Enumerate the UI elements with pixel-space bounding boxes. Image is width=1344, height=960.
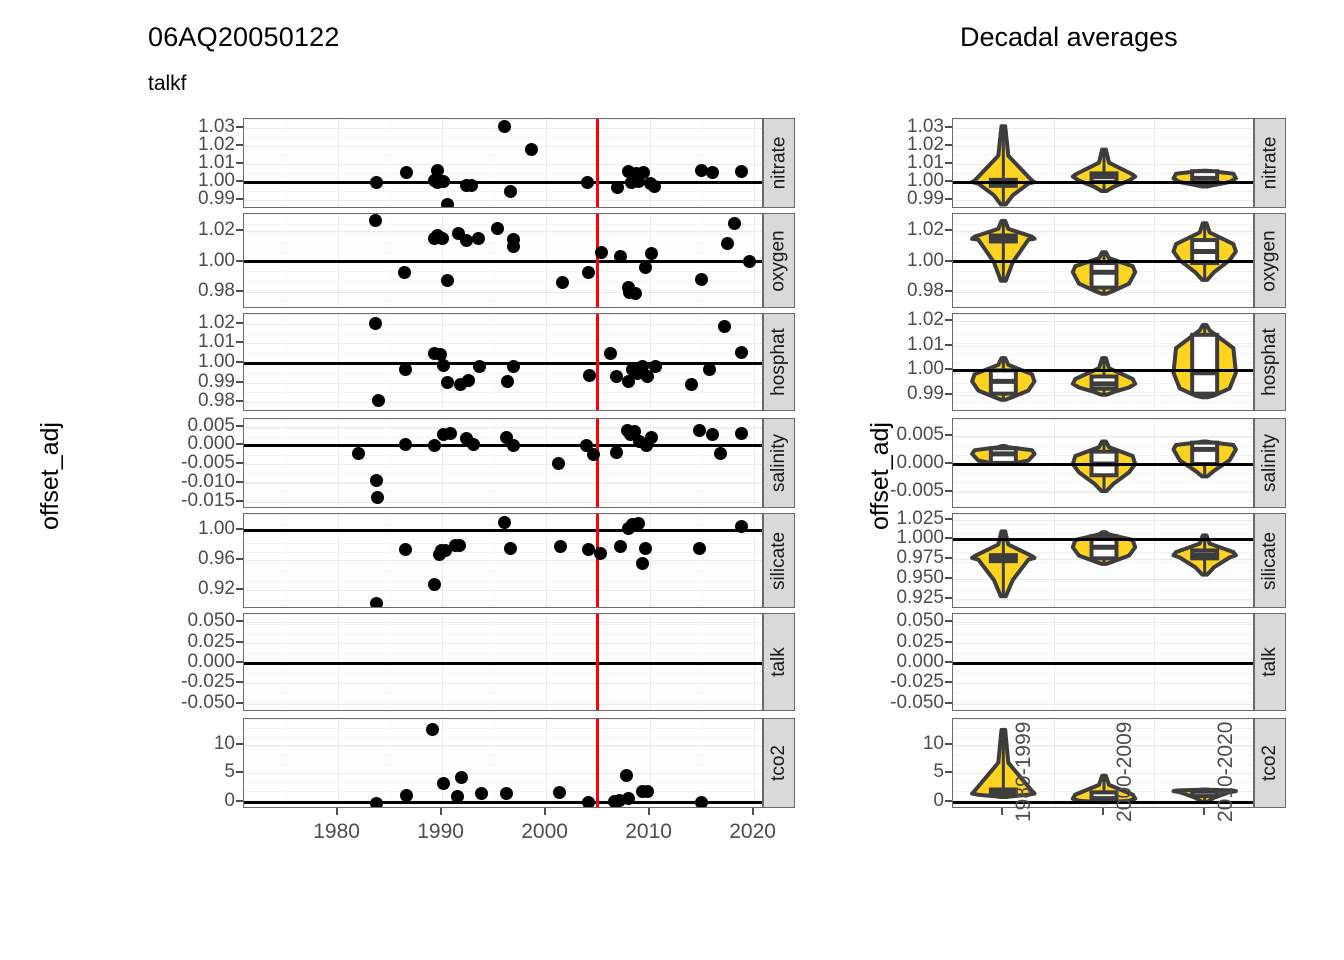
data-point: [556, 276, 569, 289]
gridline-vertical-major: [650, 119, 651, 207]
y-tick-mark: [945, 126, 952, 128]
data-point: [582, 543, 595, 556]
x-tick-label: 2010: [625, 820, 672, 844]
gridline-vertical-major: [338, 719, 339, 807]
data-point: [398, 266, 411, 279]
y-tick-label: 0.950: [862, 567, 944, 589]
y-tick-mark: [945, 162, 952, 164]
x-tick-label: 2000: [521, 820, 568, 844]
facet-strip-label: tco2: [768, 745, 790, 781]
data-point: [610, 370, 623, 383]
boxplot-box: [1092, 263, 1117, 288]
y-tick-mark: [945, 557, 952, 559]
gridline-vertical-major: [442, 719, 443, 807]
y-tick-mark: [236, 743, 243, 745]
data-point: [685, 378, 698, 391]
x-tick-mark: [1102, 808, 1104, 815]
y-tick-label: 1.00: [165, 518, 235, 540]
x-tick-mark: [1203, 808, 1205, 815]
data-point: [636, 557, 649, 570]
y-tick-label: 0.025: [862, 631, 944, 653]
zero-reference-line: [953, 260, 1253, 263]
data-point: [743, 255, 756, 268]
y-tick-label: 0.96: [165, 548, 235, 570]
gridline-minor: [244, 290, 762, 291]
data-point: [428, 578, 441, 591]
zero-reference-line: [244, 260, 762, 263]
y-tick-mark: [236, 425, 243, 427]
y-tick-mark: [236, 702, 243, 704]
gridline-minor: [244, 764, 762, 765]
y-tick-label: 0.000: [862, 651, 944, 673]
cruise-year-marker: [596, 214, 599, 307]
data-point: [437, 777, 450, 790]
data-point: [639, 261, 652, 274]
y-tick-label: 1.00: [862, 250, 944, 272]
y-tick-label: 0.050: [862, 610, 944, 632]
facet-strip-talk: talk: [1254, 613, 1286, 711]
facet-strip-nitrate: nitrate: [1254, 118, 1286, 208]
y-tick-mark: [945, 620, 952, 622]
gridline-vertical-major: [754, 419, 755, 507]
data-point: [649, 360, 662, 373]
gridline-minor: [244, 491, 762, 492]
gridline-vertical-major: [754, 719, 755, 807]
right-plot-title: Decadal averages: [960, 22, 1178, 53]
y-tick-mark: [945, 681, 952, 683]
gridline-major: [244, 343, 762, 344]
y-tick-mark: [945, 198, 952, 200]
y-tick-mark: [236, 481, 243, 483]
cruise-year-marker: [596, 119, 599, 207]
data-point: [441, 198, 454, 208]
figure-root: 06AQ20050122 talkf Decadal averages offs…: [0, 0, 1344, 960]
y-tick-label: 5: [862, 761, 944, 783]
right-panel-oxygen: [952, 213, 1254, 308]
y-tick-label: -0.050: [165, 692, 235, 714]
data-point: [370, 176, 383, 189]
data-point: [610, 446, 623, 459]
gridline-minor: [244, 581, 762, 582]
zero-reference-line: [953, 662, 1253, 665]
y-tick-mark: [236, 588, 243, 590]
gridline-minor: [244, 782, 762, 783]
y-tick-mark: [236, 290, 243, 292]
zero-reference-line: [244, 529, 762, 532]
gridline-vertical-minor: [702, 119, 703, 207]
right-panel-talk: [952, 613, 1254, 711]
cruise-year-marker: [596, 514, 599, 607]
gridline-minor: [244, 455, 762, 456]
data-point: [451, 790, 464, 803]
y-tick-mark: [236, 558, 243, 560]
facet-strip-label: talk: [1259, 647, 1281, 677]
x-tick-mark: [648, 808, 650, 815]
y-tick-mark: [236, 620, 243, 622]
data-point: [399, 438, 412, 451]
data-point: [504, 542, 517, 555]
data-point: [552, 457, 565, 470]
data-point: [620, 769, 633, 782]
data-point: [553, 786, 566, 799]
data-point: [645, 431, 658, 444]
facet-strip-talk: talk: [763, 613, 795, 711]
data-point: [595, 246, 608, 259]
data-point: [735, 520, 748, 533]
y-tick-mark: [945, 229, 952, 231]
gridline-minor: [244, 719, 762, 720]
gridline-vertical-minor: [702, 719, 703, 807]
y-tick-label: 1.03: [165, 116, 235, 138]
gridline-minor: [244, 173, 762, 174]
data-point: [441, 376, 454, 389]
data-point: [437, 175, 450, 188]
x-tick-mark: [440, 808, 442, 815]
data-point: [400, 789, 413, 802]
y-tick-mark: [945, 518, 952, 520]
facet-strip-hosphat: hosphat: [763, 313, 795, 411]
data-point: [695, 273, 708, 286]
data-point: [498, 120, 511, 133]
x-tick-label: 1990: [417, 820, 464, 844]
data-point: [735, 165, 748, 178]
y-tick-label: 0: [862, 790, 944, 812]
data-point: [462, 374, 475, 387]
gridline-major: [244, 292, 762, 293]
gridline-vertical-minor: [286, 119, 287, 207]
gridline-major: [244, 643, 762, 644]
y-tick-mark: [945, 641, 952, 643]
gridline-vertical-minor: [494, 119, 495, 207]
gridline-minor: [244, 473, 762, 474]
data-point: [554, 540, 567, 553]
left-plot-subtitle: talkf: [148, 72, 187, 96]
cruise-year-marker: [596, 419, 599, 507]
y-tick-mark: [236, 681, 243, 683]
gridline-vertical-minor: [390, 119, 391, 207]
gridline-major: [244, 146, 762, 147]
data-point: [583, 369, 596, 382]
gridline-vertical-major: [338, 119, 339, 207]
y-tick-label: 1.02: [862, 219, 944, 241]
zero-reference-line: [953, 463, 1253, 466]
y-tick-mark: [236, 361, 243, 363]
data-point: [507, 240, 520, 253]
facet-strip-label: silicate: [768, 531, 790, 589]
y-tick-label: 0.98: [862, 280, 944, 302]
y-tick-mark: [945, 368, 952, 370]
facet-strip-label: salinity: [768, 434, 790, 492]
gridline-vertical-minor: [494, 419, 495, 507]
data-point: [370, 474, 383, 487]
y-tick-label: -0.005: [862, 480, 944, 502]
right-panel-nitrate: [952, 118, 1254, 208]
y-tick-label: 1.025: [862, 508, 944, 530]
y-tick-mark: [945, 661, 952, 663]
y-tick-mark: [236, 661, 243, 663]
y-tick-label: -0.015: [165, 490, 235, 512]
y-tick-mark: [236, 198, 243, 200]
y-tick-label: 1.02: [165, 219, 235, 241]
gridline-major: [244, 324, 762, 325]
gridline-minor: [244, 155, 762, 156]
y-tick-label: 0.98: [165, 390, 235, 412]
gridline-minor: [244, 392, 762, 393]
y-tick-mark: [945, 290, 952, 292]
y-tick-label: 0.975: [862, 547, 944, 569]
gridline-vertical-major: [546, 719, 547, 807]
facet-strip-salinity: salinity: [763, 418, 795, 508]
y-tick-mark: [945, 743, 952, 745]
gridline-major: [244, 402, 762, 403]
facet-strip-tco2: tco2: [1254, 718, 1286, 808]
data-point: [399, 363, 412, 376]
left-panel-salinity: [243, 418, 763, 508]
facet-strip-tco2: tco2: [763, 718, 795, 808]
y-tick-mark: [945, 771, 952, 773]
gridline-vertical-major: [442, 119, 443, 207]
facet-strip-label: oxygen: [1259, 230, 1281, 291]
gridline-major: [244, 683, 762, 684]
data-point: [465, 179, 478, 192]
y-tick-label: 0.000: [862, 452, 944, 474]
y-tick-mark: [236, 462, 243, 464]
gridline-major: [244, 200, 762, 201]
y-tick-label: 0.000: [165, 651, 235, 673]
data-point: [718, 320, 731, 333]
facet-strip-salinity: salinity: [1254, 418, 1286, 508]
x-tick-label: 1980: [313, 820, 360, 844]
facet-strip-label: silicate: [1259, 531, 1281, 589]
x-tick-label: 2010-2020: [1214, 722, 1238, 822]
cruise-year-marker: [596, 719, 599, 807]
boxplot-box: [1192, 335, 1217, 394]
data-point: [352, 447, 365, 460]
data-point: [399, 543, 412, 556]
gridline-major: [244, 427, 762, 428]
violin-group: [953, 119, 1254, 208]
facet-strip-label: hosphat: [1259, 328, 1281, 396]
y-tick-label: 0.025: [165, 631, 235, 653]
gridline-vertical-minor: [494, 719, 495, 807]
data-point: [611, 181, 624, 194]
y-tick-mark: [236, 800, 243, 802]
gridline-minor: [244, 233, 762, 234]
data-point: [693, 542, 706, 555]
y-tick-mark: [945, 800, 952, 802]
y-tick-mark: [945, 702, 952, 704]
x-tick-mark: [544, 808, 546, 815]
gridline-minor: [244, 737, 762, 738]
facet-strip-hosphat: hosphat: [1254, 313, 1286, 411]
facet-strip-silicate: silicate: [1254, 513, 1286, 608]
data-point: [629, 287, 642, 300]
facet-strip-label: talk: [768, 647, 790, 677]
left-panel-silicate: [243, 513, 763, 608]
zero-reference-line: [953, 369, 1253, 372]
gridline-minor: [244, 428, 762, 429]
gridline-minor: [244, 600, 762, 601]
data-point: [460, 234, 473, 247]
data-point: [582, 266, 595, 279]
y-tick-mark: [945, 462, 952, 464]
y-tick-mark: [945, 260, 952, 262]
data-point: [641, 785, 654, 798]
data-point: [594, 547, 607, 560]
data-point: [735, 346, 748, 359]
y-tick-label: 0.98: [165, 280, 235, 302]
gridline-minor: [244, 552, 762, 553]
gridline-major: [244, 622, 762, 623]
data-point: [372, 394, 385, 407]
y-tick-label: 5: [165, 761, 235, 783]
data-point: [473, 360, 486, 373]
gridline-major: [244, 590, 762, 591]
gridline-vertical-minor: [390, 419, 391, 507]
y-tick-label: 1.02: [862, 309, 944, 331]
gridline-minor: [244, 137, 762, 138]
gridline-minor: [244, 281, 762, 282]
x-tick-mark: [752, 808, 754, 815]
data-point: [714, 447, 727, 460]
gridline-minor: [244, 624, 762, 625]
x-tick-mark: [1001, 808, 1003, 815]
y-tick-mark: [236, 341, 243, 343]
y-tick-mark: [945, 180, 952, 182]
violin-group: [953, 514, 1254, 608]
y-tick-mark: [945, 319, 952, 321]
y-tick-label: -0.025: [165, 671, 235, 693]
zero-reference-line: [244, 444, 762, 447]
gridline-minor: [244, 634, 762, 635]
y-tick-label: 0.99: [165, 371, 235, 393]
gridline-minor: [244, 653, 762, 654]
facet-strip-nitrate: nitrate: [763, 118, 795, 208]
data-point: [639, 542, 652, 555]
right-panel-tco2: [952, 718, 1254, 808]
gridline-minor: [244, 755, 762, 756]
gridline-major: [244, 164, 762, 165]
facet-strip-label: nitrate: [1259, 137, 1281, 190]
facet-strip-label: oxygen: [768, 230, 790, 291]
gridline-vertical-minor: [390, 719, 391, 807]
data-point: [426, 723, 439, 736]
y-tick-label: 1.00: [165, 351, 235, 373]
data-point: [498, 516, 511, 529]
x-tick-label: 1989-1999: [1012, 722, 1036, 822]
gridline-major: [244, 704, 762, 705]
gridline-minor: [244, 533, 762, 534]
data-point: [735, 427, 748, 440]
data-point: [587, 448, 600, 461]
facet-strip-label: hosphat: [768, 328, 790, 396]
gridline-vertical-major: [546, 119, 547, 207]
gridline-vertical-minor: [286, 419, 287, 507]
zero-reference-line: [953, 181, 1253, 184]
y-tick-label: 0.925: [862, 587, 944, 609]
y-tick-label: 1.03: [862, 116, 944, 138]
data-point: [467, 438, 480, 451]
gridline-minor: [244, 728, 762, 729]
violin-group: [953, 314, 1254, 411]
data-point: [695, 796, 708, 808]
gridline-major: [244, 483, 762, 484]
gridline-minor: [244, 692, 762, 693]
y-tick-mark: [945, 490, 952, 492]
data-point: [455, 771, 468, 784]
cruise-year-marker: [596, 614, 599, 710]
gridline-minor: [244, 543, 762, 544]
y-tick-label: 10: [862, 733, 944, 755]
y-tick-mark: [945, 537, 952, 539]
violin-group: [953, 719, 1254, 808]
gridline-minor: [244, 419, 762, 420]
y-tick-label: 1.00: [862, 358, 944, 380]
data-point: [437, 359, 450, 372]
data-point: [400, 166, 413, 179]
y-tick-label: -0.025: [862, 671, 944, 693]
gridline-minor: [244, 300, 762, 301]
y-tick-label: 1.00: [165, 250, 235, 272]
data-point: [525, 143, 538, 156]
gridline-minor: [244, 373, 762, 374]
left-panel-nitrate: [243, 118, 763, 208]
data-point: [507, 360, 520, 373]
y-tick-mark: [236, 322, 243, 324]
y-tick-mark: [236, 381, 243, 383]
zero-reference-line: [953, 801, 1253, 804]
y-tick-mark: [236, 260, 243, 262]
data-point: [507, 439, 520, 452]
facet-strip-label: salinity: [1259, 434, 1281, 492]
zero-reference-line: [244, 181, 762, 184]
y-tick-mark: [236, 400, 243, 402]
data-point: [645, 247, 658, 260]
y-tick-label: 0.92: [165, 578, 235, 600]
x-tick-label: 2000-2009: [1113, 722, 1137, 822]
y-tick-label: 1.01: [165, 331, 235, 353]
y-tick-label: 0.005: [862, 424, 944, 446]
left-panel-hosphat: [243, 313, 763, 411]
data-point: [441, 274, 454, 287]
gridline-minor: [244, 334, 762, 335]
gridline-minor: [244, 252, 762, 253]
gridline-minor: [244, 214, 762, 215]
data-point: [604, 347, 617, 360]
left-panel-tco2: [243, 718, 763, 808]
y-tick-mark: [945, 597, 952, 599]
gridline-major: [244, 464, 762, 465]
left-panel-oxygen: [243, 213, 763, 308]
left-y-axis-label: offset_adj: [36, 422, 65, 530]
y-tick-mark: [236, 641, 243, 643]
data-point: [721, 237, 734, 250]
gridline-vertical-major: [338, 419, 339, 507]
gridline-vertical-major: [754, 119, 755, 207]
left-panel-talk: [243, 613, 763, 711]
data-point: [370, 797, 383, 808]
zero-reference-line: [244, 662, 762, 665]
gridline-minor: [244, 314, 762, 315]
data-point: [475, 787, 488, 800]
data-point: [504, 185, 517, 198]
gridline-vertical-minor: [286, 719, 287, 807]
data-point: [706, 428, 719, 441]
facet-strip-oxygen: oxygen: [1254, 213, 1286, 308]
gridline-minor: [244, 614, 762, 615]
gridline-major: [244, 560, 762, 561]
data-point: [728, 217, 741, 230]
